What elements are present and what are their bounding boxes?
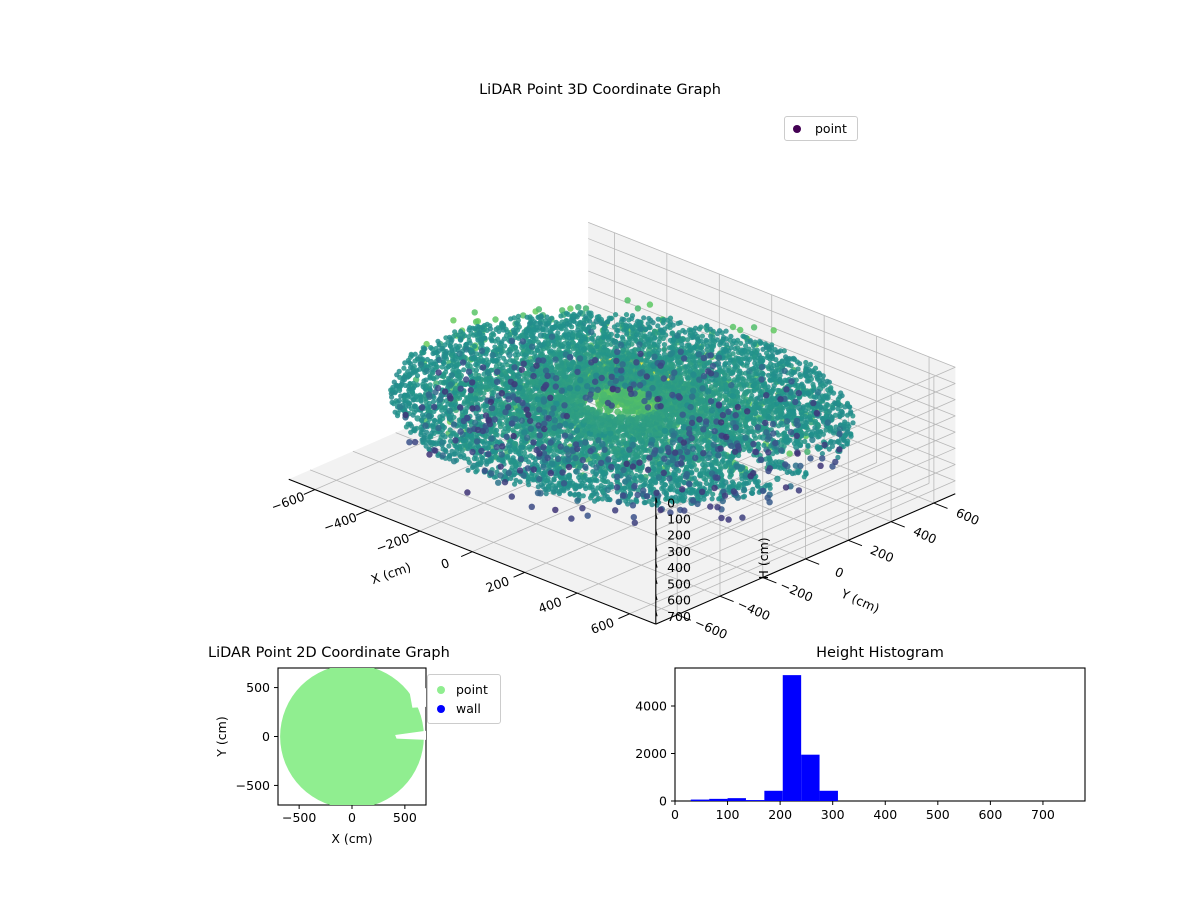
height-histogram-plot[interactable]: 0100200300400500600700020004000 xyxy=(610,640,1110,900)
lidar-3d-plot[interactable]: −600−400−2000200400600−600−400−200020040… xyxy=(0,0,1200,640)
